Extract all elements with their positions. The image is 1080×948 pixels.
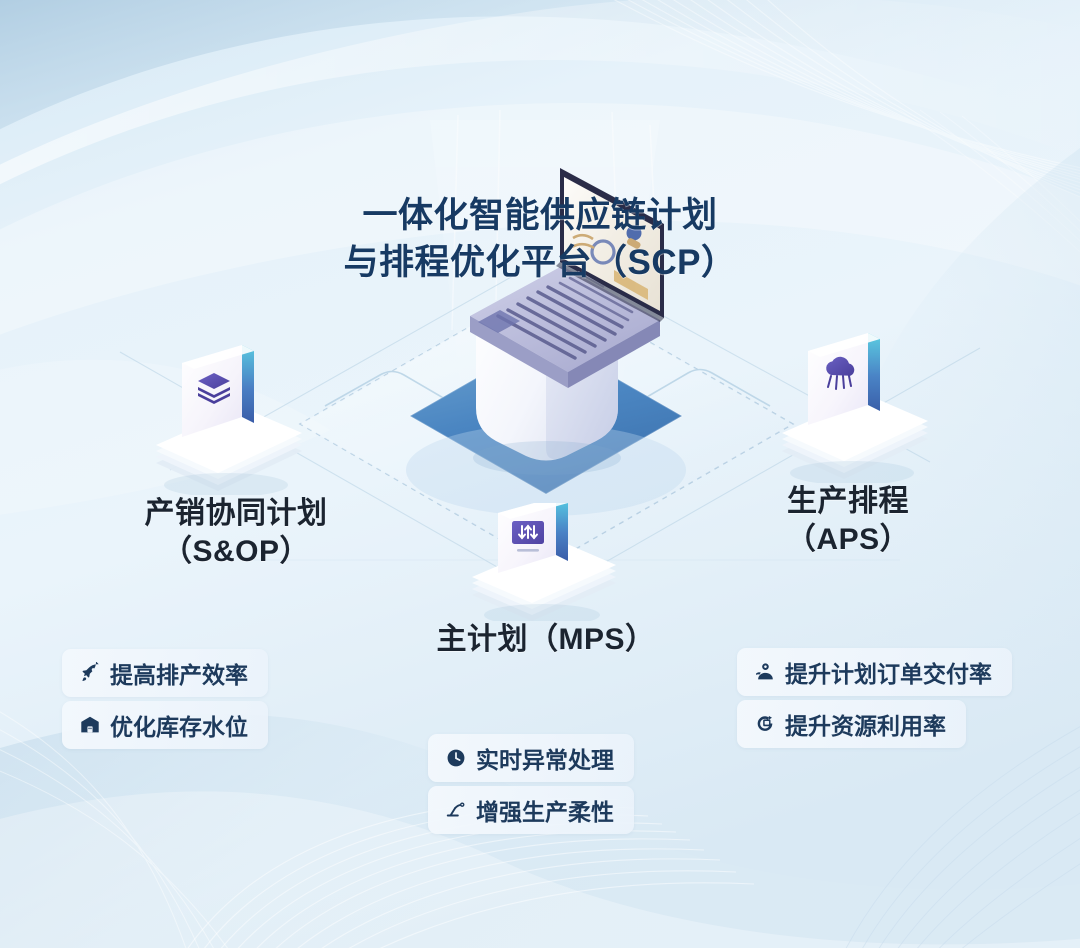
node-aps[interactable]: 生产排程 （APS） xyxy=(738,333,958,560)
pill-realtime-exception-handling[interactable]: 实时异常处理 xyxy=(428,734,634,782)
infographic-canvas: 一体化智能供应链计划 与排程优化平台（SCP） xyxy=(0,0,1080,948)
pill-label: 实时异常处理 xyxy=(476,741,614,775)
node-sop-art xyxy=(126,345,346,495)
node-aps-label: 生产排程 （APS） xyxy=(738,483,958,560)
pill-label: 提高排产效率 xyxy=(110,656,248,690)
recycle-cycle-icon xyxy=(754,713,776,735)
page-title: 一体化智能供应链计划 与排程优化平台（SCP） xyxy=(260,193,820,286)
pill-enhance-production-flexibility[interactable]: 增强生产柔性 xyxy=(428,786,634,834)
node-sop[interactable]: 产销协同计划 （S&OP） xyxy=(126,345,346,572)
node-mps-label: 主计划（MPS） xyxy=(436,621,656,659)
pill-improve-scheduling-efficiency[interactable]: 提高排产效率 xyxy=(62,649,268,697)
pill-improve-resource-utilization[interactable]: 提升资源利用率 xyxy=(737,700,966,748)
node-aps-art xyxy=(738,333,958,483)
pill-label: 提升资源利用率 xyxy=(785,707,946,741)
pill-label: 增强生产柔性 xyxy=(476,793,614,827)
pill-label: 优化库存水位 xyxy=(110,708,248,742)
warehouse-icon xyxy=(79,714,101,736)
pill-improve-order-delivery-rate[interactable]: 提升计划订单交付率 xyxy=(737,648,1012,696)
delivery-person-icon xyxy=(754,661,776,683)
rocket-icon xyxy=(79,662,101,684)
node-sop-label: 产销协同计划 （S&OP） xyxy=(126,495,346,572)
pill-label: 提升计划订单交付率 xyxy=(785,655,992,689)
clock-icon xyxy=(445,747,467,769)
node-mps[interactable]: 主计划（MPS） xyxy=(436,503,656,659)
pill-optimize-inventory-level[interactable]: 优化库存水位 xyxy=(62,701,268,749)
node-mps-art xyxy=(436,503,656,621)
wrench-tool-icon xyxy=(445,799,467,821)
